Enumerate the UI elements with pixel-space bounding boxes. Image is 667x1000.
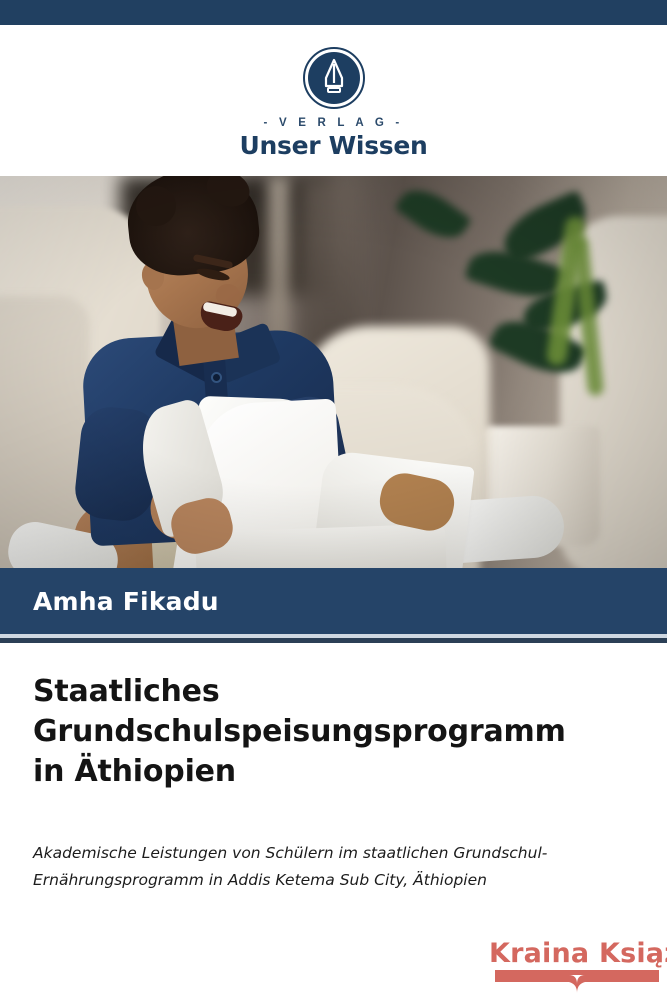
cover-photograph bbox=[0, 176, 667, 568]
subtitle-block: Akademische Leistungen von Schülern im s… bbox=[33, 840, 633, 894]
retailer-watermark: Kraina Książek bbox=[489, 940, 665, 996]
author-band: Amha Fikadu bbox=[0, 568, 667, 634]
divider-white bbox=[0, 643, 667, 646]
photo-vignette bbox=[0, 176, 667, 568]
top-accent-band bbox=[0, 0, 667, 25]
publisher-imprint-label: - V E R L A G - bbox=[264, 117, 404, 129]
author-name: Amha Fikadu bbox=[33, 587, 219, 616]
publisher-header: - V E R L A G - Unser Wissen bbox=[0, 25, 667, 176]
book-title-line-2: Grundschulspeisungsprogramm bbox=[33, 712, 633, 752]
retailer-watermark-text: Kraina Książek bbox=[489, 940, 665, 967]
book-title-line-1: Staatliches bbox=[33, 672, 633, 712]
book-subtitle-line-2: Ernährungsprogramm in Addis Ketema Sub C… bbox=[33, 867, 633, 894]
book-subtitle-line-1: Akademische Leistungen von Schülern im s… bbox=[33, 840, 633, 867]
publisher-name: Unser Wissen bbox=[239, 131, 427, 160]
open-book-underline-icon bbox=[489, 970, 665, 996]
book-title-line-3: in Äthiopien bbox=[33, 752, 633, 792]
title-block: Staatliches Grundschulspeisungsprogramm … bbox=[33, 672, 633, 793]
book-cover: - V E R L A G - Unser Wissen bbox=[0, 0, 667, 1000]
pen-nib-in-circle-icon bbox=[303, 47, 365, 109]
